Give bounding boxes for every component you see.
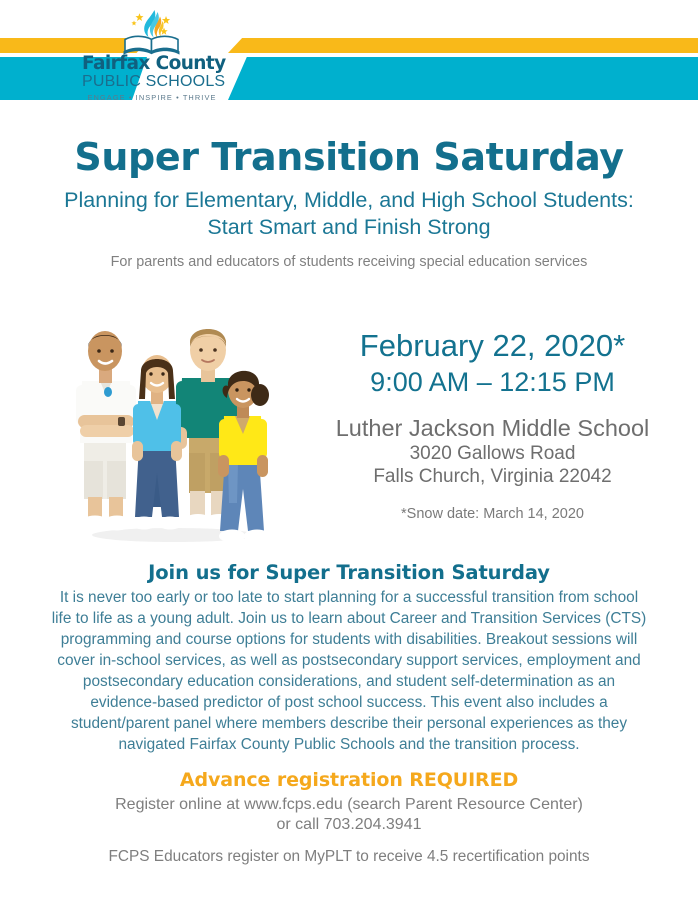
registration-heading: Advance registration REQUIRED <box>49 769 649 791</box>
event-city-state-zip: Falls Church, Virginia 22042 <box>300 465 685 488</box>
event-details: February 22, 2020* 9:00 AM – 12:15 PM Lu… <box>300 328 685 522</box>
event-address: 3020 Gallows Road <box>300 442 685 465</box>
body-block: Join us for Super Transition Saturday It… <box>49 561 649 756</box>
snow-date-note: *Snow date: March 14, 2020 <box>300 506 685 522</box>
event-time: 9:00 AM – 12:15 PM <box>300 366 685 398</box>
header-banner: Fairfax County PUBLIC SCHOOLS ENGAGE • I… <box>0 0 698 118</box>
header-band-right <box>228 38 698 100</box>
cyan-bar-right <box>228 57 698 100</box>
title-block: Super Transition Saturday Planning for E… <box>0 136 698 270</box>
event-venue: Luther Jackson Middle School <box>300 415 685 442</box>
page-title: Super Transition Saturday <box>0 136 698 179</box>
students-photo-illustration <box>62 303 292 548</box>
students-photo <box>62 303 292 548</box>
body-paragraph: It is never too early or too late to sta… <box>49 588 649 756</box>
educators-note: FCPS Educators register on MyPLT to rece… <box>49 848 649 866</box>
page-subtitle-line1: Planning for Elementary, Middle, and Hig… <box>39 187 659 215</box>
audience-note: For parents and educators of students re… <box>0 254 698 270</box>
registration-line-1: Register online at www.fcps.edu (search … <box>49 795 649 815</box>
logo-tagline: ENGAGE • INSPIRE • THRIVE <box>82 93 222 102</box>
yellow-bar-right <box>228 38 698 53</box>
flyer-page: Fairfax County PUBLIC SCHOOLS ENGAGE • I… <box>0 0 698 905</box>
registration-line-2: or call 703.204.3941 <box>49 815 649 835</box>
join-us-heading: Join us for Super Transition Saturday <box>49 561 649 584</box>
logo-org-subtitle: PUBLIC SCHOOLS <box>82 74 222 91</box>
registration-block: Advance registration REQUIRED Register o… <box>49 769 649 836</box>
page-subtitle-line2: Start Smart and Finish Strong <box>39 214 659 242</box>
event-date: February 22, 2020* <box>300 328 685 365</box>
logo-org-name: Fairfax County <box>82 55 222 74</box>
page-subtitle: Planning for Elementary, Middle, and Hig… <box>39 187 659 242</box>
flame-book-logo-icon <box>82 8 222 56</box>
fcps-logo: Fairfax County PUBLIC SCHOOLS ENGAGE • I… <box>82 8 222 110</box>
